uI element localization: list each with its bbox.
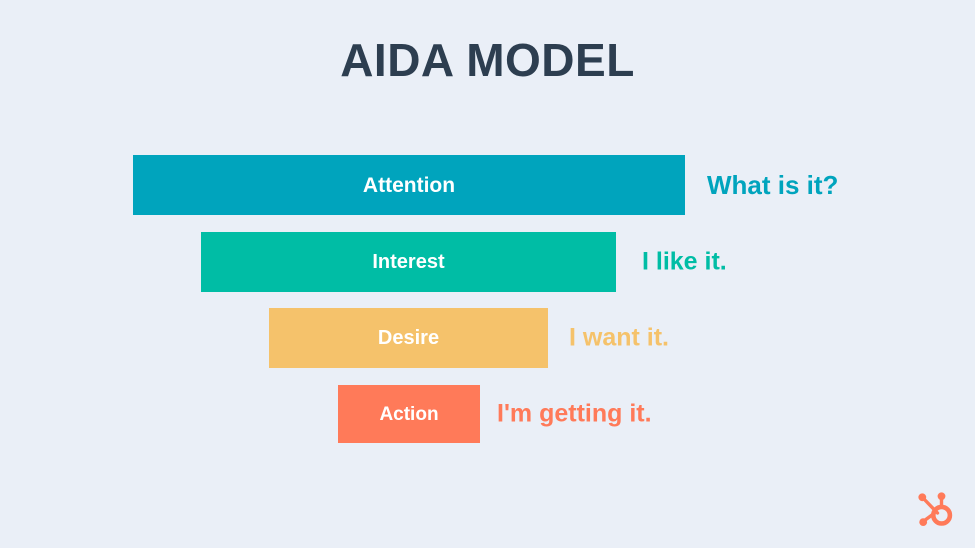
funnel-caption-attention: What is it?	[707, 172, 838, 198]
page-title: AIDA MODEL	[0, 31, 975, 89]
funnel-bar-label-interest: Interest	[372, 252, 444, 272]
funnel-caption-desire: I want it.	[569, 326, 669, 351]
funnel-stage-desire: Desire I want it.	[0, 308, 975, 368]
funnel-stage-action: Action I'm getting it.	[0, 385, 975, 443]
aida-model-slide: AIDA MODEL Attention What is it? Interes…	[0, 0, 975, 548]
funnel-bar-attention: Attention	[133, 155, 685, 215]
funnel-bar-action: Action	[338, 385, 480, 443]
hubspot-sprocket-logo-icon	[911, 487, 957, 533]
funnel-bar-label-desire: Desire	[378, 328, 439, 348]
funnel-bar-interest: Interest	[201, 232, 616, 292]
aida-funnel: Attention What is it? Interest I like it…	[0, 155, 975, 445]
funnel-stage-attention: Attention What is it?	[0, 155, 975, 215]
funnel-caption-interest: I like it.	[642, 250, 727, 275]
funnel-caption-action: I'm getting it.	[497, 402, 652, 427]
funnel-bar-desire: Desire	[269, 308, 548, 368]
funnel-stage-interest: Interest I like it.	[0, 232, 975, 292]
funnel-bar-label-attention: Attention	[363, 175, 455, 196]
funnel-bar-label-action: Action	[379, 405, 438, 424]
